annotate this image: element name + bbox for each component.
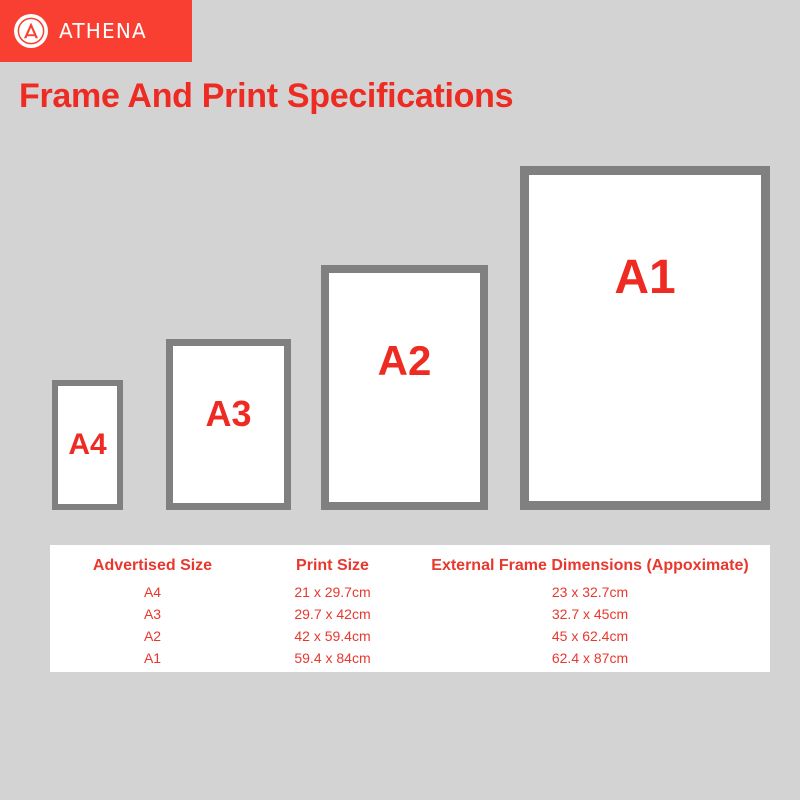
frame-label-a1: A1 — [529, 254, 761, 302]
table-header-row: Advertised Size Print Size External Fram… — [50, 545, 770, 581]
frame-swatch-a4: A4 — [52, 380, 123, 510]
cell-print-size: 29.7 x 42cm — [255, 603, 410, 625]
cell-external-frame: 62.4 x 87cm — [410, 647, 770, 669]
frame-size-diagram: A4 A3 A2 A1 — [0, 0, 800, 800]
specification-panel: Advertised Size Print Size External Fram… — [50, 545, 770, 672]
specification-table: Advertised Size Print Size External Fram… — [50, 545, 770, 669]
table-row: A3 29.7 x 42cm 32.7 x 45cm — [50, 603, 770, 625]
frame-swatch-a1: A1 — [520, 166, 770, 510]
cell-print-size: 42 x 59.4cm — [255, 625, 410, 647]
column-header-external-frame-dimensions: External Frame Dimensions (Appoximate) — [410, 545, 770, 581]
cell-external-frame: 45 x 62.4cm — [410, 625, 770, 647]
table-row: A4 21 x 29.7cm 23 x 32.7cm — [50, 581, 770, 603]
frame-swatch-a3: A3 — [166, 339, 291, 510]
column-header-advertised-size: Advertised Size — [50, 545, 255, 581]
frame-label-a4: A4 — [58, 430, 117, 460]
cell-print-size: 21 x 29.7cm — [255, 581, 410, 603]
cell-advertised-size: A4 — [50, 581, 255, 603]
cell-advertised-size: A2 — [50, 625, 255, 647]
cell-external-frame: 32.7 x 45cm — [410, 603, 770, 625]
frame-label-a2: A2 — [329, 340, 480, 382]
cell-print-size: 59.4 x 84cm — [255, 647, 410, 669]
table-row: A2 42 x 59.4cm 45 x 62.4cm — [50, 625, 770, 647]
frame-swatch-a2: A2 — [321, 265, 488, 510]
table-row: A1 59.4 x 84cm 62.4 x 87cm — [50, 647, 770, 669]
cell-advertised-size: A1 — [50, 647, 255, 669]
cell-advertised-size: A3 — [50, 603, 255, 625]
frame-label-a3: A3 — [173, 396, 284, 432]
cell-external-frame: 23 x 32.7cm — [410, 581, 770, 603]
column-header-print-size: Print Size — [255, 545, 410, 581]
